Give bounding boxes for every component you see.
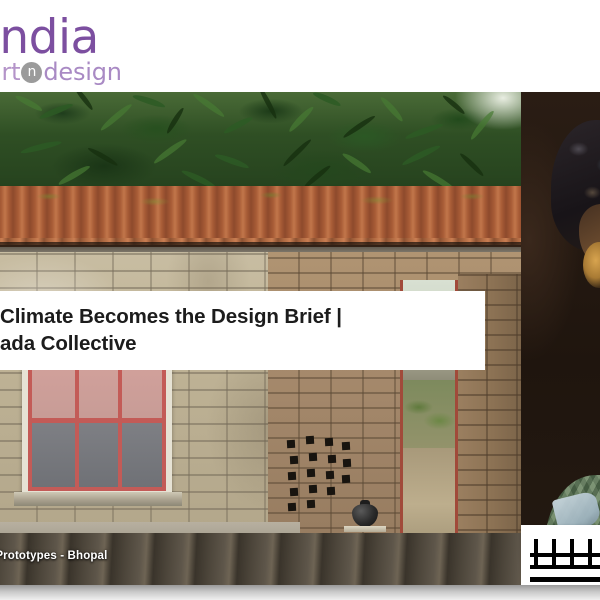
tagline-art: art <box>0 59 20 85</box>
brand-wordmark: India <box>0 14 146 62</box>
hero-image: ) Prototypes - Bhopal Climate Becomes th… <box>0 92 600 585</box>
doorway-ground <box>403 448 455 542</box>
jali-brick-screen <box>287 436 350 516</box>
headline-overlay: Climate Becomes the Design Brief | ada C… <box>0 291 485 370</box>
window-sill <box>14 492 182 506</box>
article-headline[interactable]: Climate Becomes the Design Brief | ada C… <box>0 303 467 357</box>
headline-line-1: Climate Becomes the Design Brief | <box>0 305 342 328</box>
partner-logo-card[interactable] <box>521 525 600 585</box>
doorway-vegetation <box>403 380 455 448</box>
tiled-roof <box>0 186 521 242</box>
wall-shelf <box>344 526 386 532</box>
site-logo[interactable]: India art n design <box>0 14 146 85</box>
window-glazing <box>28 353 166 491</box>
page-root: ) Prototypes - Bhopal Climate Becomes th… <box>0 0 600 600</box>
site-masthead: India art n design <box>0 0 600 92</box>
foliage-background <box>0 92 521 198</box>
page-bottom-shadow <box>0 585 600 600</box>
tagline-design: design <box>43 59 121 85</box>
roof-moss <box>0 186 521 212</box>
geometric-grid-logo-icon <box>530 539 600 585</box>
portrait-photo <box>521 92 600 585</box>
circle-n-icon: n <box>21 62 42 83</box>
headline-line-2: ada Collective <box>0 332 136 355</box>
photo-caption: ) Prototypes - Bhopal <box>0 550 107 562</box>
sky-patch <box>431 92 521 152</box>
